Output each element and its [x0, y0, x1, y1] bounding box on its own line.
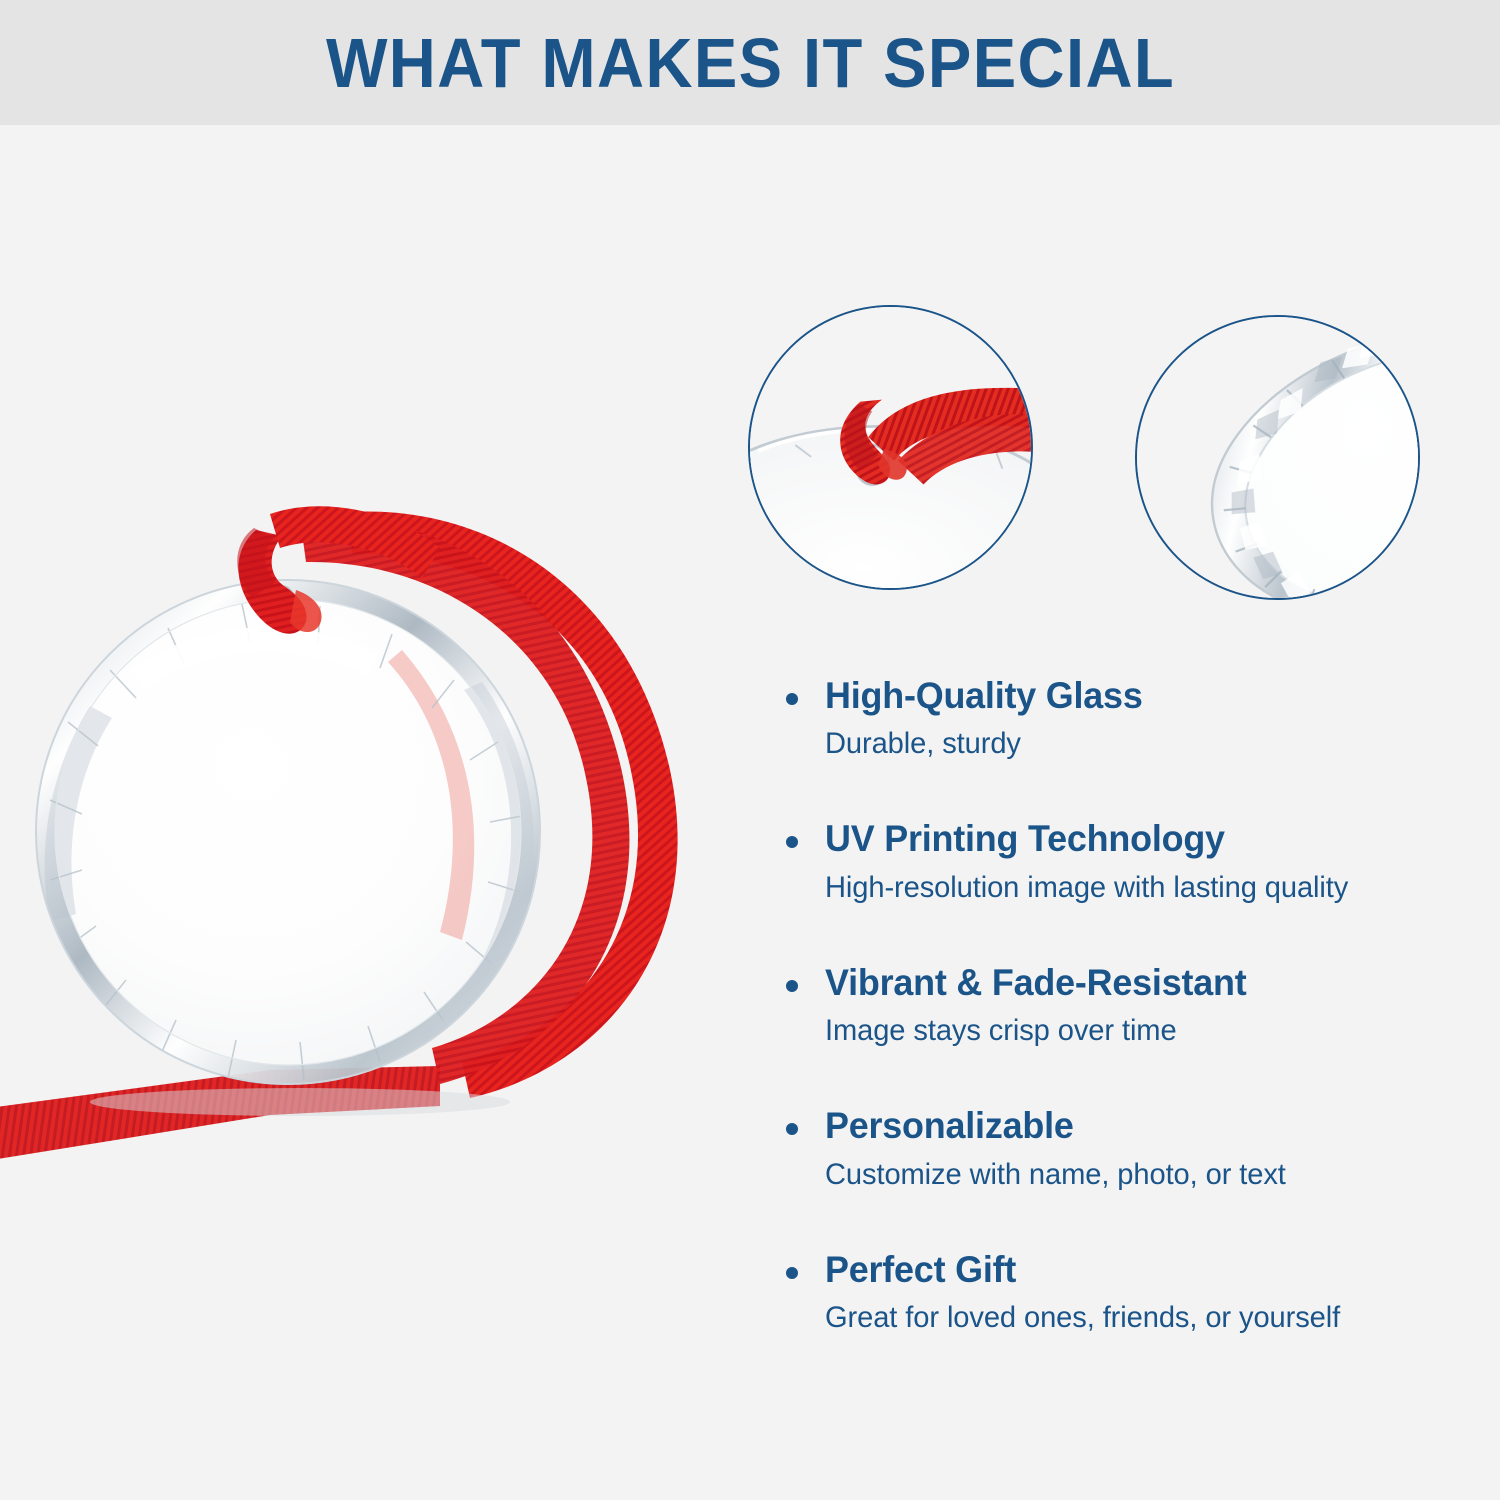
feature-heading: Perfect Gift — [825, 1249, 1422, 1290]
feature-subtext: Image stays crisp over time — [825, 1013, 1422, 1049]
page-title: WHAT MAKES IT SPECIAL — [325, 28, 1174, 98]
feature-item-personalizable: Personalizable Customize with name, phot… — [780, 1105, 1440, 1192]
feature-heading: UV Printing Technology — [825, 818, 1422, 859]
feature-subtext: Great for loved ones, friends, or yourse… — [825, 1300, 1422, 1336]
product-hero-image — [0, 470, 710, 1160]
feature-item-vibrant-fade-resistant: Vibrant & Fade-Resistant Image stays cri… — [780, 962, 1440, 1049]
main-stage: High-Quality Glass Durable, sturdy UV Pr… — [0, 125, 1500, 1500]
feature-item-high-quality-glass: High-Quality Glass Durable, sturdy — [780, 675, 1440, 762]
bullet-icon — [786, 1123, 798, 1135]
feature-heading: High-Quality Glass — [825, 675, 1422, 716]
feature-subtext: Customize with name, photo, or text — [825, 1157, 1422, 1193]
feature-list: High-Quality Glass Durable, sturdy UV Pr… — [780, 675, 1440, 1336]
feature-heading: Personalizable — [825, 1105, 1422, 1146]
feature-subtext: High-resolution image with lasting quali… — [825, 870, 1422, 906]
bullet-icon — [786, 980, 798, 992]
feature-item-perfect-gift: Perfect Gift Great for loved ones, frien… — [780, 1249, 1440, 1336]
bullet-icon — [786, 693, 798, 705]
feature-heading: Vibrant & Fade-Resistant — [825, 962, 1422, 1003]
detail-circle-beveled-edge — [1135, 315, 1420, 600]
feature-item-uv-printing-technology: UV Printing Technology High-resolution i… — [780, 818, 1440, 905]
header-band: WHAT MAKES IT SPECIAL — [0, 0, 1500, 125]
feature-subtext: Durable, sturdy — [825, 726, 1422, 762]
bullet-icon — [786, 836, 798, 848]
detail-circle-ribbon-loop — [748, 305, 1033, 590]
bullet-icon — [786, 1267, 798, 1279]
